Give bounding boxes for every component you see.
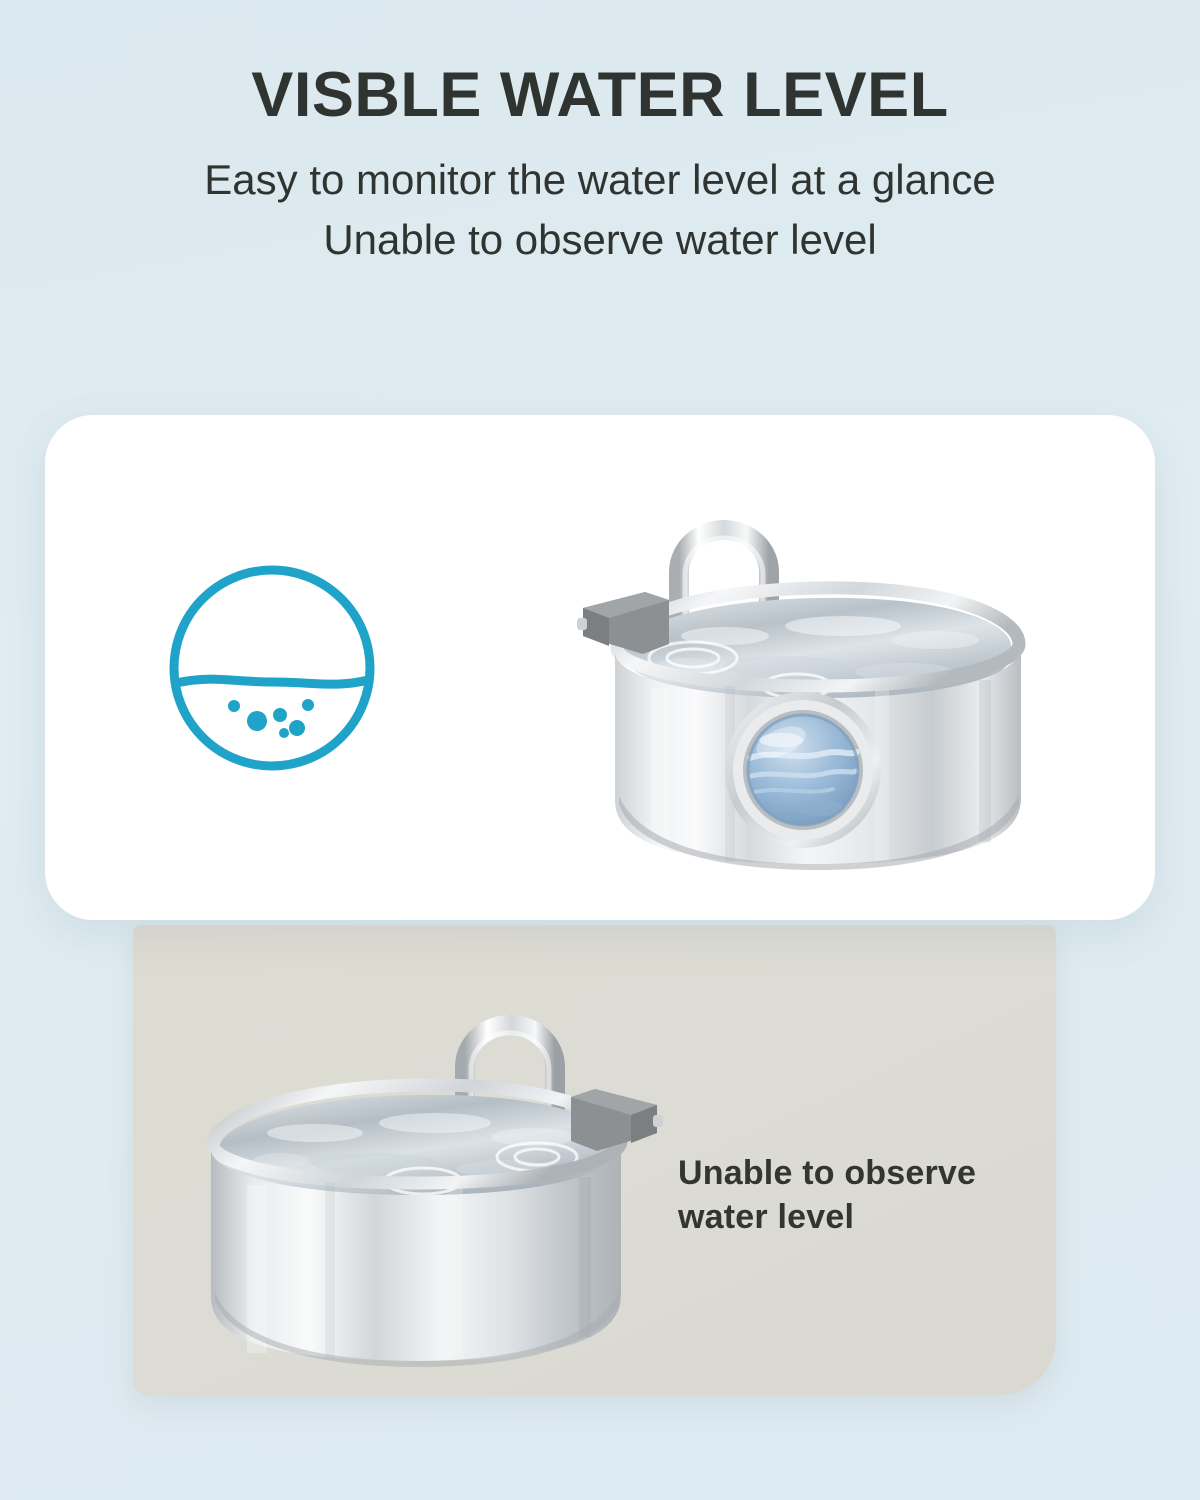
- product-image-fountain-without-window: [185, 945, 665, 1385]
- con-caption-line-2: water level: [678, 1196, 1028, 1240]
- con-panel-caption: Unable to observe water level: [678, 1152, 1028, 1239]
- water-level-circle-icon: [162, 558, 382, 778]
- page-title: VISBLE WATER LEVEL: [0, 0, 1200, 128]
- con-caption-line-1: Unable to observe: [678, 1152, 1028, 1196]
- header-block: VISBLE WATER LEVEL Easy to monitor the w…: [0, 0, 1200, 269]
- marketing-infographic-page: VISBLE WATER LEVEL Easy to monitor the w…: [0, 0, 1200, 1500]
- subtitle-pro: Easy to monitor the water level at a gla…: [0, 128, 1200, 210]
- subtitle-con: Unable to observe water level: [0, 210, 1200, 270]
- product-image-fountain-with-window: [575, 440, 1065, 895]
